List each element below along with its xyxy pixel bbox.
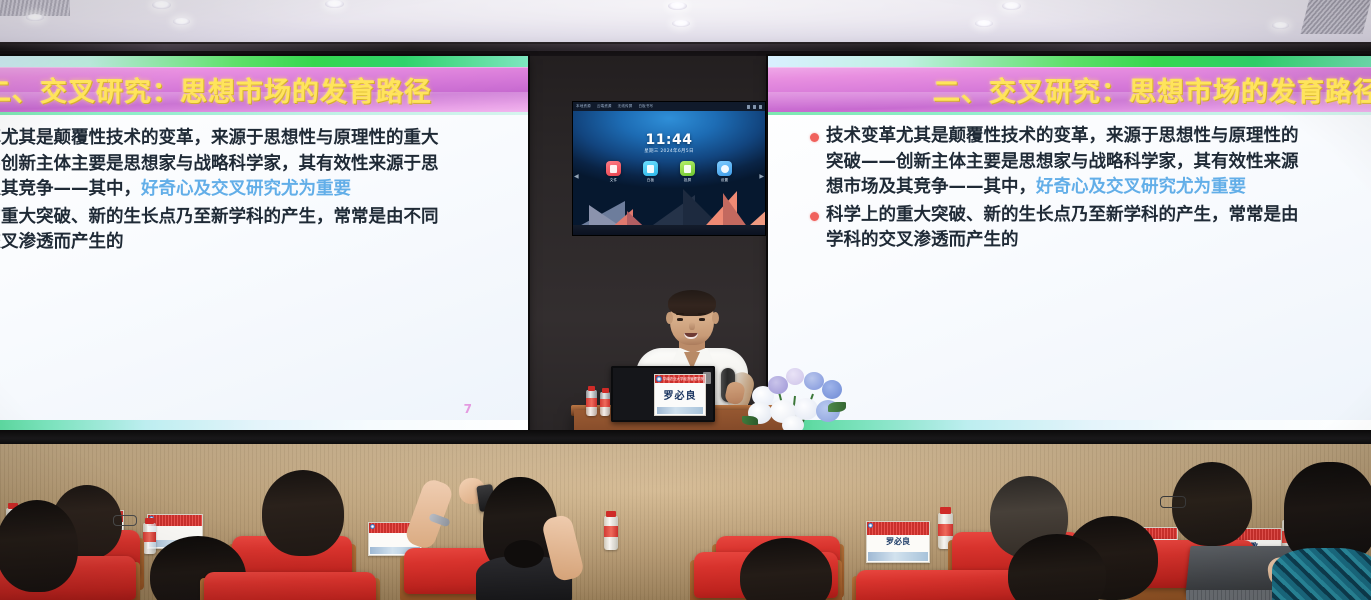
bottle-label [604,526,618,537]
speaker-name: 罗必良 [655,387,705,402]
chair [856,570,1024,600]
speaker-brow-right [698,313,706,315]
chair [204,572,376,600]
bullet-line: 场及其竞争——其中，好奇心及交叉研究尤为重要 [0,177,439,203]
audience-head [1284,462,1371,562]
downlight [26,14,44,21]
flower-blossom [804,372,824,390]
bottle-label [143,532,156,542]
ceiling [0,0,1371,48]
flower-leaf [742,416,758,425]
podium-monitor: 华南农业大学经济管理学院 罗必良 [611,366,715,422]
university-seal-icon [656,376,662,382]
display-clock: 11:44 [573,132,765,148]
downlight [1002,2,1021,10]
list-item: 科学上的重大突破、新的生长点乃至新学科的产生，常常是由 学科的交叉渗透而产生的 [810,203,1371,254]
nameplate-speaker: 罗必良 [866,521,930,563]
speaker-nose [689,322,695,330]
flower-leaf [828,402,846,412]
display-app-row: 文件 白板 投屏 设置 [573,161,765,183]
speaker-eye-left [677,318,683,321]
bullet-dot-icon [810,212,819,221]
menu-item-cloud[interactable]: 云端资源 [597,104,612,109]
bullet-line: 上的重大突破、新的生长点乃至新学科的产生，常常是由不同 [0,205,439,231]
list-item: 技术变革尤其是颠覆性技术的变革，来源于思想性与原理性的 突破——创新主体主要是思… [810,124,1371,201]
bottle-cap [606,511,616,517]
downlight [325,0,344,8]
slide-title-band: 二、交叉研究：思想市场的发育路径 [768,67,1371,112]
volume-icon [753,105,756,109]
menu-item-cast[interactable]: 无线传屏 [618,104,633,109]
audience-head [262,470,344,556]
slide-left: 二、交叉研究：思想市场的发育路径 变革尤其是颠覆性技术的变革，来源于思想性与原理… [0,56,528,434]
display-date: 星期三 2024年6月5日 [573,148,765,154]
central-interactive-display[interactable]: 11:44 星期三 2024年6月5日 文件 白板 投屏 设置 [573,102,765,235]
slide-top-gradient-bar [0,56,528,67]
bullet-highlight: 好奇心及交叉研究尤为重要 [1036,177,1246,197]
display-menu-bar[interactable]: 本地资源 云端资源 无线传屏 白板书写 [573,102,765,111]
bullet-line: 想市场及其竞争——其中，好奇心及交叉研究尤为重要 [826,175,1299,201]
list-item: 变革尤其是颠覆性技术的变革，来源于思想性与原理性的重大 ——创新主体主要是思想家… [0,126,528,203]
slide-title-underline [768,112,1371,115]
cast-icon [680,161,695,176]
display-next-arrow-icon[interactable]: ▶ [759,173,764,180]
monitor-side-panel [703,372,711,384]
slide-title-left: 二、交叉研究：思想市场的发育路径 [0,70,432,109]
whiteboard-icon [643,161,658,176]
audience-glasses [113,515,137,526]
flower-blossom [786,368,804,385]
speaker-ear-right [712,312,719,324]
flower-blossom [822,380,842,399]
gear-icon [717,161,732,176]
slide-right: 二、交叉研究：思想市场的发育路径 技术变革尤其是颠覆性技术的变革，来源于思想性与… [768,56,1371,434]
speaker-name-card: 华南农业大学经济管理学院 罗必良 [654,374,706,416]
downlight [672,20,690,27]
bottle-cap [145,518,154,524]
audience-head [0,500,78,592]
speaker-ear-left [666,312,673,324]
file-icon [606,161,621,176]
slide-page-number: 7 [464,402,472,416]
downlight [975,20,993,27]
bullet-line: 技术变革尤其是颠覆性技术的变革，来源于思想性与原理性的 [826,124,1299,150]
name-card-footer-image [657,407,703,414]
slide-title-band: 二、交叉研究：思想市场的发育路径 [0,67,528,112]
downlight [668,2,687,10]
bullet-dot-icon [810,133,819,142]
slide-title-right: 二、交叉研究：思想市场的发育路径 [933,70,1371,109]
bottle-cap [602,388,609,393]
audience-glasses [1160,496,1186,508]
slide-right-bullets: 技术变革尤其是颠覆性技术的变革，来源于思想性与原理性的 突破——创新主体主要是思… [810,124,1371,256]
bullet-highlight: 好奇心及交叉研究尤为重要 [141,179,351,199]
nameplate-name: 罗必良 [867,536,929,547]
display-prev-arrow-icon[interactable]: ◀ [574,173,579,180]
speaker-eye-right [699,318,705,321]
ceiling-vent-right [1301,0,1371,34]
menu-status-icons [747,105,762,109]
display-wallpaper: 11:44 星期三 2024年6月5日 文件 白板 投屏 设置 [573,111,765,235]
bullet-line: ——创新主体主要是思想家与战略科学家，其有效性来源于思 [0,152,439,178]
bullet-line: 学科的交叉渗透而产生的 [826,228,1299,254]
name-card-header-band: 华南农业大学经济管理学院 [655,375,705,383]
slide-left-bullets: 变革尤其是颠覆性技术的变革，来源于思想性与原理性的重大 ——创新主体主要是思想家… [0,126,528,258]
menu-item-whiteboard[interactable]: 白板书写 [638,104,653,109]
display-app-whiteboard[interactable]: 白板 [643,161,659,183]
bottle-cap [940,507,951,514]
bullet-line: 变革尤其是颠覆性技术的变革，来源于思想性与原理性的重大 [0,126,439,152]
bullet-line: 的交叉渗透而产生的 [0,230,439,256]
speaker-brow-left [676,313,684,315]
projection-screen-right: 二、交叉研究：思想市场的发育路径 技术变革尤其是颠覆性技术的变革，来源于思想性与… [768,56,1371,434]
bottle-label [586,398,597,407]
audience-torso [1272,548,1371,600]
menu-item-local[interactable]: 本地资源 [576,104,591,109]
display-app-settings[interactable]: 设置 [717,161,733,183]
lecture-hall-photo: 二、交叉研究：思想市场的发育路径 变革尤其是颠覆性技术的变革，来源于思想性与原理… [0,0,1371,600]
slide-top-gradient-bar [768,56,1371,67]
wallpaper-mountains [573,183,765,235]
downlight [152,1,171,9]
bottle-label [938,524,953,536]
display-app-file[interactable]: 文件 [606,161,622,183]
flower-arrangement [742,356,852,434]
downlight [1272,22,1289,29]
downlight [173,18,190,25]
speaker-hair [668,290,716,316]
bullet-line: 科学上的重大突破、新的生长点乃至新学科的产生，常常是由 [826,203,1299,229]
projection-screen-left: 二、交叉研究：思想市场的发育路径 变革尤其是颠覆性技术的变革，来源于思想性与原理… [0,56,528,434]
slide-title-underline [0,112,528,115]
list-item: 上的重大突破、新的生长点乃至新学科的产生，常常是由不同 的交叉渗透而产生的 [0,205,528,256]
stage-base-strip [0,430,1371,444]
bullet-line: 突破——创新主体主要是思想家与战略科学家，其有效性来源 [826,150,1299,176]
bottle-label [600,399,610,407]
bottle-cap [588,386,595,391]
audience-hair-bun [504,540,544,568]
display-app-cast[interactable]: 投屏 [680,161,696,183]
wifi-icon [747,105,750,109]
flower-blossom [768,376,788,394]
battery-icon [759,105,762,109]
name-card-org: 华南农业大学经济管理学院 [663,376,704,381]
